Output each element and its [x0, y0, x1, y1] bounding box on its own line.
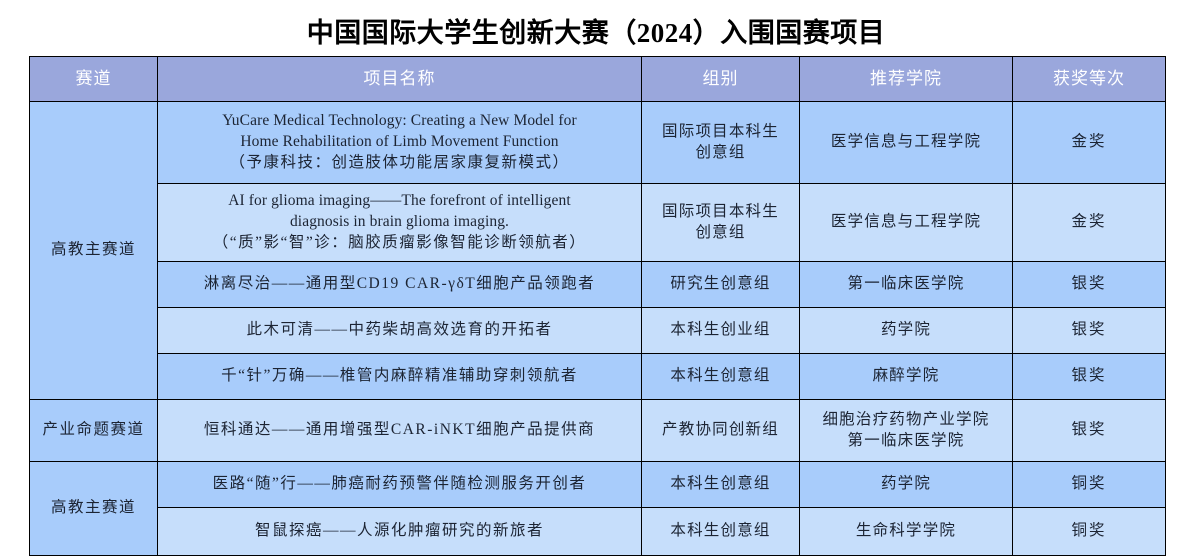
cell-group-line: 国际项目本科生 [646, 122, 795, 143]
table-body: 高教主赛道YuCare Medical Technology: Creating… [30, 102, 1166, 556]
cell-award: 银奖 [1013, 262, 1166, 308]
cell-college: 医学信息与工程学院 [800, 102, 1013, 184]
table-row: 智鼠探癌——人源化肿瘤研究的新旅者本科生创意组生命科学学院铜奖 [30, 508, 1166, 556]
cell-award: 银奖 [1013, 308, 1166, 354]
cell-group-line: 本科生创意组 [646, 474, 795, 495]
cell-project: 医路“随”行——肺癌耐药预警伴随检测服务开创者 [158, 462, 642, 508]
cell-group-line: 创意组 [646, 223, 795, 244]
cell-project-line: 医路“随”行——肺癌耐药预警伴随检测服务开创者 [162, 474, 637, 495]
cell-college-line: 医学信息与工程学院 [804, 212, 1008, 233]
cell-college-line: 药学院 [804, 474, 1008, 495]
cell-group: 产教协同创新组 [642, 400, 800, 462]
cell-group: 本科生创意组 [642, 462, 800, 508]
table-row: 高教主赛道YuCare Medical Technology: Creating… [30, 102, 1166, 184]
cell-project-line: （“质”影“智”诊：脑胶质瘤影像智能诊断领航者） [162, 233, 637, 254]
cell-track: 高教主赛道 [30, 102, 158, 400]
table-row: 千“针”万确——椎管内麻醉精准辅助穿刺领航者本科生创意组麻醉学院银奖 [30, 354, 1166, 400]
cell-project-line: 恒科通达——通用增强型CAR-iNKT细胞产品提供商 [162, 420, 637, 441]
cell-project-line: 此木可清——中药柴胡高效选育的开拓者 [162, 320, 637, 341]
column-header-college: 推荐学院 [800, 57, 1013, 102]
cell-college-line: 生命科学学院 [804, 521, 1008, 542]
cell-group-line: 产教协同创新组 [646, 420, 795, 441]
cell-track: 高教主赛道 [30, 462, 158, 556]
cell-project: 此木可清——中药柴胡高效选育的开拓者 [158, 308, 642, 354]
cell-college-line: 麻醉学院 [804, 366, 1008, 387]
cell-college: 医学信息与工程学院 [800, 184, 1013, 262]
column-header-project: 项目名称 [158, 57, 642, 102]
cell-award: 银奖 [1013, 354, 1166, 400]
cell-project-line: diagnosis in brain glioma imaging. [162, 212, 637, 233]
award-table: 赛道 项目名称 组别 推荐学院 获奖等次 高教主赛道YuCare Medical… [29, 56, 1166, 556]
cell-project-line: 淋离尽治——通用型CD19 CAR-γδT细胞产品领跑者 [162, 274, 637, 295]
cell-award: 银奖 [1013, 400, 1166, 462]
cell-project-line: AI for glioma imaging——The forefront of … [162, 191, 637, 212]
column-header-track: 赛道 [30, 57, 158, 102]
cell-college: 药学院 [800, 308, 1013, 354]
cell-group: 国际项目本科生创意组 [642, 102, 800, 184]
cell-project: YuCare Medical Technology: Creating a Ne… [158, 102, 642, 184]
cell-college-line: 药学院 [804, 320, 1008, 341]
table-row: 此木可清——中药柴胡高效选育的开拓者本科生创业组药学院银奖 [30, 308, 1166, 354]
table-header-row: 赛道 项目名称 组别 推荐学院 获奖等次 [30, 57, 1166, 102]
cell-project-line: YuCare Medical Technology: Creating a Ne… [162, 111, 637, 132]
cell-project-line: 智鼠探癌——人源化肿瘤研究的新旅者 [162, 521, 637, 542]
cell-project: 千“针”万确——椎管内麻醉精准辅助穿刺领航者 [158, 354, 642, 400]
cell-college: 生命科学学院 [800, 508, 1013, 556]
cell-college: 细胞治疗药物产业学院第一临床医学院 [800, 400, 1013, 462]
page-root: 中国国际大学生创新大赛（2024）入围国赛项目 赛道 项目名称 组别 推荐学院 … [0, 0, 1192, 555]
cell-group-line: 本科生创意组 [646, 521, 795, 542]
table-row: 高教主赛道医路“随”行——肺癌耐药预警伴随检测服务开创者本科生创意组药学院铜奖 [30, 462, 1166, 508]
table-row: 淋离尽治——通用型CD19 CAR-γδT细胞产品领跑者研究生创意组第一临床医学… [30, 262, 1166, 308]
cell-college-line: 第一临床医学院 [804, 431, 1008, 452]
cell-project: 智鼠探癌——人源化肿瘤研究的新旅者 [158, 508, 642, 556]
cell-group-line: 国际项目本科生 [646, 202, 795, 223]
cell-project: AI for glioma imaging——The forefront of … [158, 184, 642, 262]
cell-award: 金奖 [1013, 102, 1166, 184]
cell-college: 第一临床医学院 [800, 262, 1013, 308]
cell-group: 本科生创意组 [642, 354, 800, 400]
cell-group: 本科生创意组 [642, 508, 800, 556]
table-row: AI for glioma imaging——The forefront of … [30, 184, 1166, 262]
table-row: 产业命题赛道恒科通达——通用增强型CAR-iNKT细胞产品提供商产教协同创新组细… [30, 400, 1166, 462]
cell-award: 金奖 [1013, 184, 1166, 262]
cell-award: 铜奖 [1013, 462, 1166, 508]
table-header: 赛道 项目名称 组别 推荐学院 获奖等次 [30, 57, 1166, 102]
cell-group: 研究生创意组 [642, 262, 800, 308]
cell-college: 麻醉学院 [800, 354, 1013, 400]
cell-college-line: 第一临床医学院 [804, 274, 1008, 295]
cell-award: 铜奖 [1013, 508, 1166, 556]
cell-group-line: 本科生创业组 [646, 320, 795, 341]
column-header-group: 组别 [642, 57, 800, 102]
cell-project: 淋离尽治——通用型CD19 CAR-γδT细胞产品领跑者 [158, 262, 642, 308]
cell-project-line: 千“针”万确——椎管内麻醉精准辅助穿刺领航者 [162, 366, 637, 387]
cell-group: 国际项目本科生创意组 [642, 184, 800, 262]
cell-group: 本科生创业组 [642, 308, 800, 354]
cell-college-line: 细胞治疗药物产业学院 [804, 410, 1008, 431]
cell-college-line: 医学信息与工程学院 [804, 132, 1008, 153]
cell-project: 恒科通达——通用增强型CAR-iNKT细胞产品提供商 [158, 400, 642, 462]
cell-project-line: （予康科技：创造肢体功能居家康复新模式） [162, 153, 637, 174]
cell-track: 产业命题赛道 [30, 400, 158, 462]
cell-group-line: 创意组 [646, 143, 795, 164]
cell-group-line: 本科生创意组 [646, 366, 795, 387]
cell-project-line: Home Rehabilitation of Limb Movement Fun… [162, 132, 637, 153]
cell-group-line: 研究生创意组 [646, 274, 795, 295]
cell-college: 药学院 [800, 462, 1013, 508]
page-title: 中国国际大学生创新大赛（2024）入围国赛项目 [0, 11, 1192, 50]
column-header-award: 获奖等次 [1013, 57, 1166, 102]
